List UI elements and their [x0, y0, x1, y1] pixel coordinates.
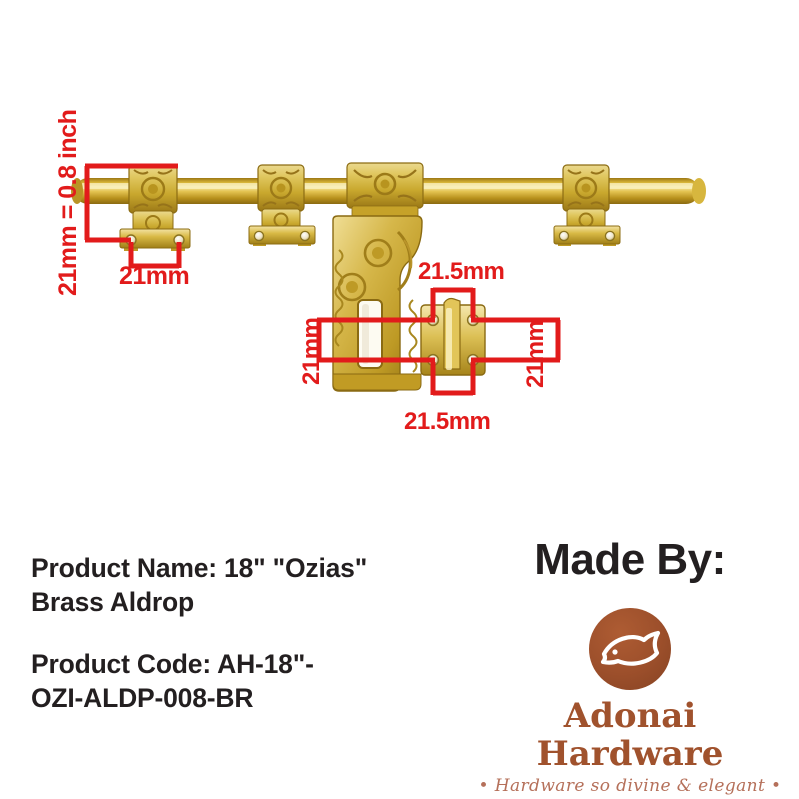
- product-code-line-2: OZI-ALDP-008-BR: [31, 681, 461, 715]
- product-info-block: Product Name: 18" "Ozias" Brass Aldrop P…: [31, 551, 461, 715]
- dimension-label-width-left-plate: 21mm: [119, 262, 189, 291]
- brand-tagline: • Hardware so divine & elegant •: [470, 775, 790, 797]
- product-code-line-1: Product Code: AH-18"-: [31, 647, 461, 681]
- fish-ichthys-icon: [588, 607, 672, 691]
- product-name-line-1: Product Name: 18" "Ozias": [31, 551, 461, 585]
- middle-bracket-assembly: [249, 165, 315, 246]
- dimension-label-receiver-width-top: 21.5mm: [418, 258, 504, 286]
- dimension-label-height-left: 21mm = 0.8 inch: [54, 110, 83, 296]
- dimension-label-receiver-height-left: 21mm: [298, 318, 326, 385]
- brand-block: Made By: Adonai Hardware • Hardware so d…: [470, 535, 790, 797]
- product-name-line-2: Brass Aldrop: [31, 585, 461, 619]
- adonai-logo: [588, 607, 672, 691]
- dimension-label-receiver-height-right: 21mm: [522, 321, 550, 388]
- product-image-page: 21mm = 0.8 inch 21mm 21.5mm 21.5mm 21mm …: [0, 0, 799, 799]
- info-spacer: [31, 619, 461, 647]
- right-bracket-assembly: [554, 165, 620, 246]
- brass-aldrop-illustration: [0, 0, 799, 520]
- dimension-label-receiver-width-bottom: 21.5mm: [404, 408, 490, 436]
- made-by-title: Made By:: [470, 535, 790, 585]
- product-photo: 21mm = 0.8 inch 21mm 21.5mm 21.5mm 21mm …: [0, 0, 799, 520]
- center-drop-assembly: [333, 163, 423, 391]
- brand-wordmark: Adonai Hardware: [470, 697, 790, 773]
